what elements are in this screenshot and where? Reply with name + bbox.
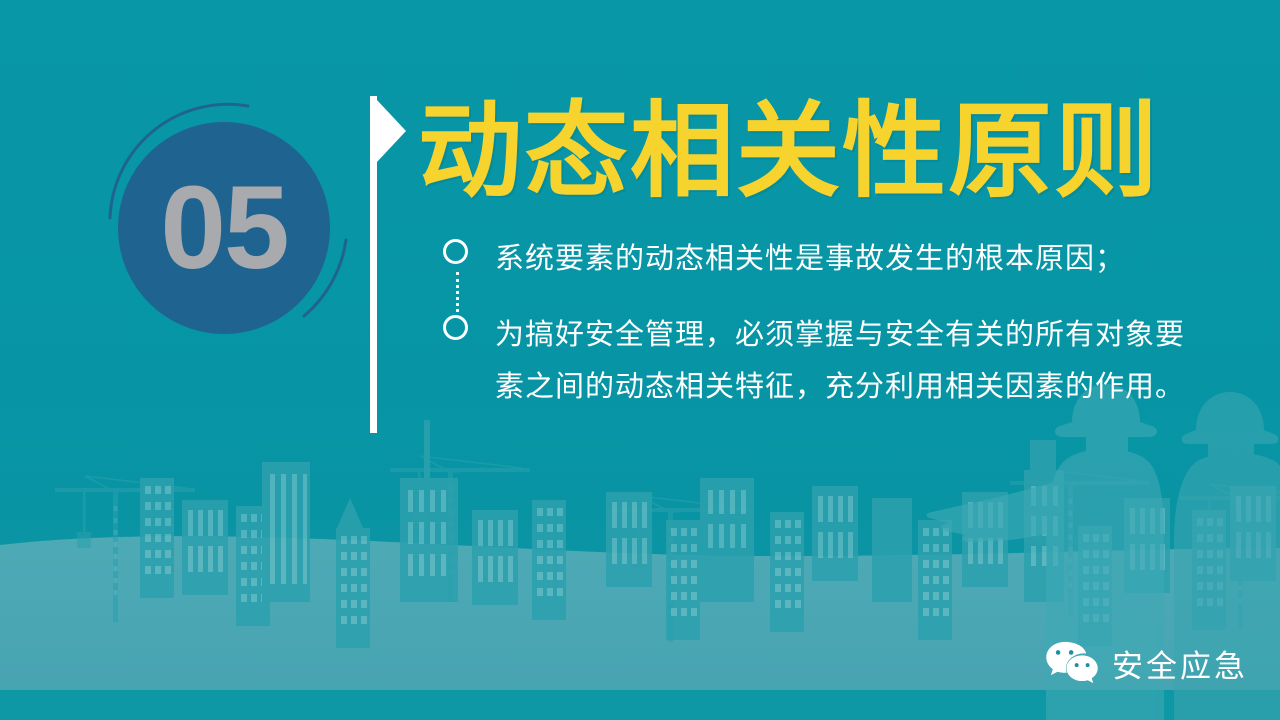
bullet-list: 系统要素的动态相关性是事故发生的根本原因； 为搞好安全管理，必须掌握与安全有关的… [443, 233, 1203, 413]
triangle-right-icon [376, 99, 406, 163]
dotted-line-icon [456, 272, 459, 312]
bullet-marker-column [443, 233, 495, 264]
watermark: 安全应急 [1045, 640, 1248, 686]
list-item: 系统要素的动态相关性是事故发生的根本原因； [443, 233, 1203, 285]
step-number-badge: 05 [98, 100, 353, 355]
badge-number: 05 [118, 122, 330, 334]
wechat-icon [1045, 640, 1099, 686]
hollow-circle-icon [443, 315, 468, 340]
hollow-circle-icon [443, 239, 468, 264]
list-item-text: 系统要素的动态相关性是事故发生的根本原因； [495, 233, 1125, 285]
list-item: 为搞好安全管理，必须掌握与安全有关的所有对象要素之间的动态相关特征，充分利用相关… [443, 309, 1203, 413]
slide-canvas: 05 动态相关性原则 系统要素的动态相关性是事故发生的根本原因； 为搞好安全管理… [0, 0, 1280, 720]
bullet-marker-column [443, 309, 495, 340]
page-title: 动态相关性原则 [418, 96, 1160, 208]
list-item-text: 为搞好安全管理，必须掌握与安全有关的所有对象要素之间的动态相关特征，充分利用相关… [495, 309, 1203, 413]
watermark-text: 安全应急 [1112, 641, 1248, 686]
